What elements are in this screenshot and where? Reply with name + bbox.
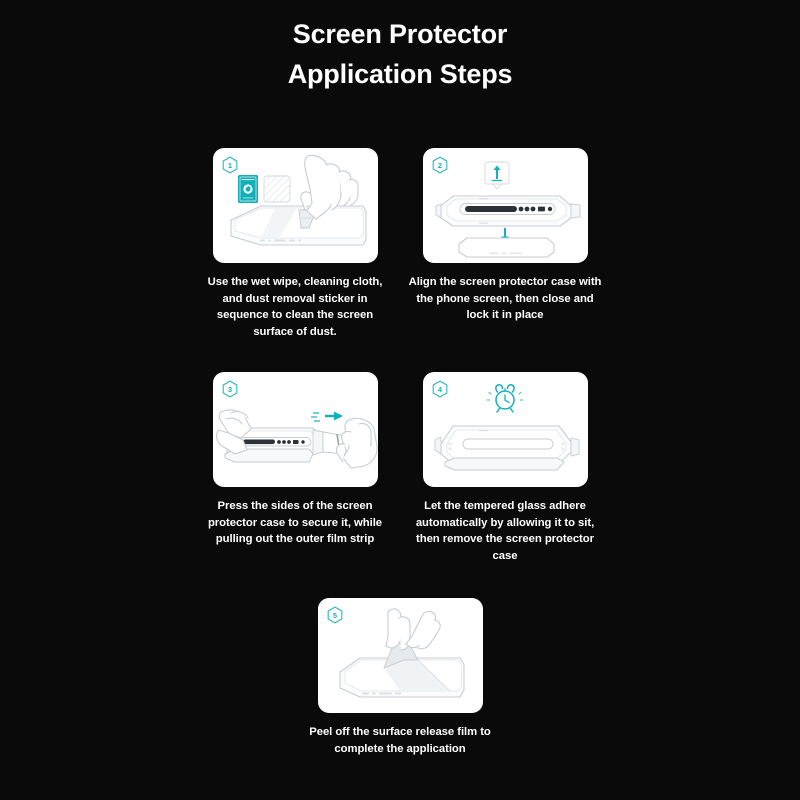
title-line-2: Application Steps [0,54,800,94]
step-illustration-card-5: 5 [318,598,483,713]
alarm-clock-icon [487,385,523,412]
phone-outline [459,238,554,257]
step-caption-3: Press the sides of the screen protector … [198,498,393,548]
step-card-2: 2 [423,148,588,340]
step-card-1: 1 [213,148,378,340]
step-caption-1: Use the wet wipe, cleaning cloth, and du… [198,274,393,340]
step-caption-5: Peel off the surface release film to com… [303,724,498,757]
step-card-4: 4 [423,372,588,564]
hand-pressing-left [216,410,250,454]
step-illustration-card-1: 1 [213,148,378,263]
step-illustration-card-3: 3 [213,372,378,487]
step-caption-4: Let the tempered glass adhere automatica… [408,498,603,564]
illustration-case-waiting-with-clock [423,372,588,487]
step-caption-2: Align the screen protector case with the… [408,274,603,324]
phone-outline [231,206,366,245]
step-card-5: 5 [318,598,483,757]
fingers-peeling [386,609,440,650]
steps-row-2: 3 [0,372,800,564]
illustration-case-aligning-over-phone [423,148,588,263]
title-line-1: Screen Protector [0,14,800,54]
cleaning-cloth [264,176,290,202]
callout-up-arrow [485,162,509,189]
page-title: Screen Protector Application Steps [0,14,800,94]
step-card-3: 3 [213,372,378,564]
steps-row-3: 5 [0,598,800,757]
illustration-hand-wiping-phone [213,148,378,263]
steps-row-1: 1 [0,148,800,340]
steps-grid: 1 [0,148,800,757]
pull-right-arrow [311,412,343,422]
step-illustration-card-2: 2 [423,148,588,263]
illustration-peeling-release-film [318,598,483,713]
applicator-case [436,196,580,226]
applicator-case-on-phone [435,426,579,470]
wet-wipe-packet [238,175,258,203]
step-illustration-card-4: 4 [423,372,588,487]
infographic-page: Screen Protector Application Steps 1 [0,0,800,800]
illustration-pressing-case-pulling-film [213,372,378,487]
